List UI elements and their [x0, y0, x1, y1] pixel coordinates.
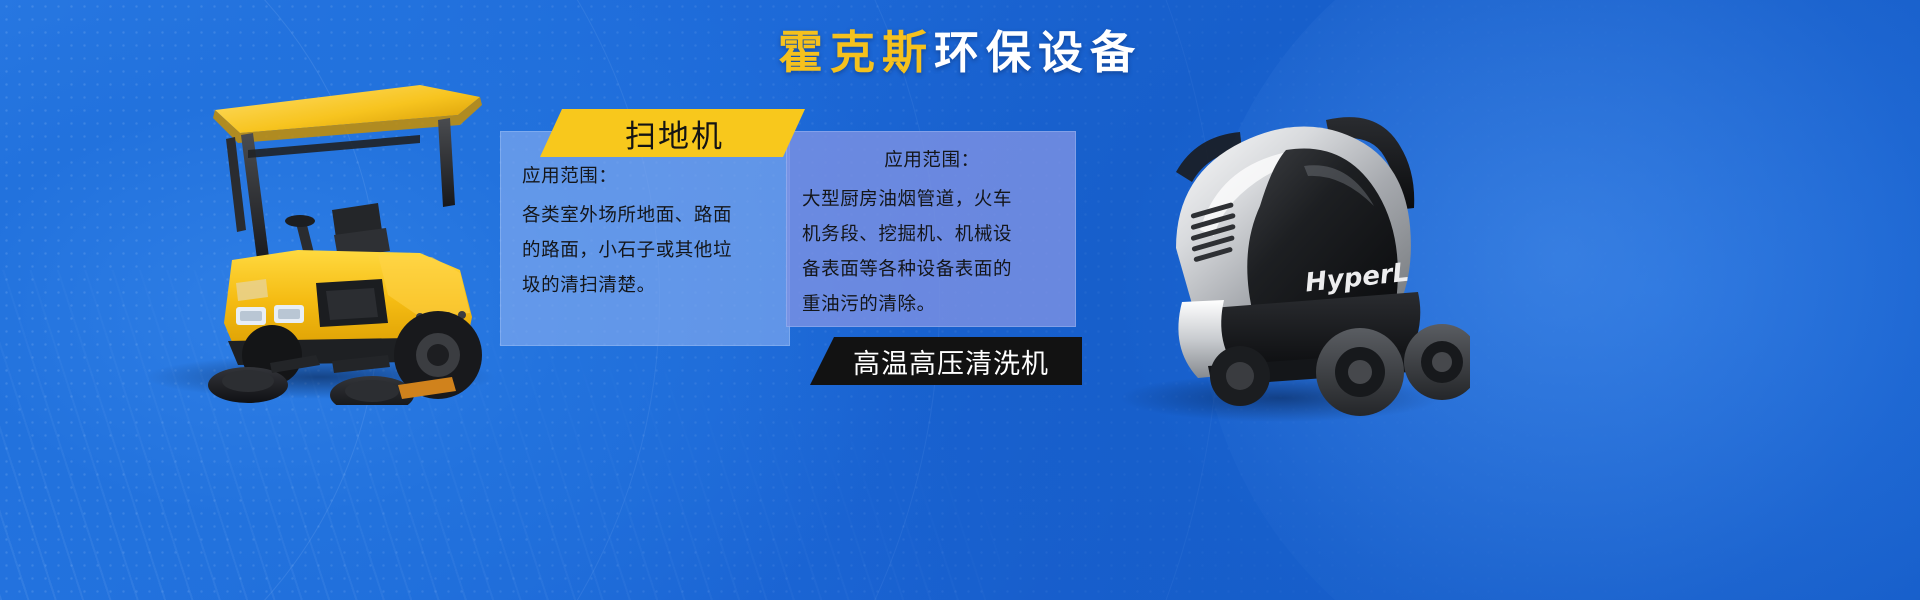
sweeper-lead-label: 应用范围：: [522, 159, 772, 194]
banner-title-rest: 环保设备: [934, 26, 1142, 79]
washer-info-panel: 应用范围： 大型厨房油烟管道，火车 机务段、挖掘机、机械设 备表面等各种设备表面…: [786, 131, 1076, 327]
sweeper-product-image: [120, 55, 520, 405]
washer-product-image: HyperL: [1090, 80, 1470, 430]
promo-banner: 霍克斯环保设备: [0, 0, 1920, 600]
washer-desc-line: 机务段、挖掘机、机械设: [802, 217, 1062, 252]
sweeper-category-tag[interactable]: 扫地机: [540, 109, 805, 157]
washer-desc-line: 大型厨房油烟管道，火车: [802, 182, 1062, 217]
sweeper-info-panel: 应用范围： 各类室外场所地面、路面 的路面，小石子或其他垃 圾的清扫清楚。: [500, 131, 790, 346]
sweeper-desc-line: 圾的清扫清楚。: [522, 268, 772, 303]
banner-title-highlight: 霍克斯: [778, 26, 934, 79]
washer-desc-line: 重油污的清除。: [802, 287, 1062, 322]
sweeper-category-tag-label: 扫地机: [540, 109, 805, 157]
washer-category-tag-label: 高温高压清洗机: [810, 337, 1082, 385]
washer-category-tag[interactable]: 高温高压清洗机: [810, 337, 1082, 385]
sweeper-desc-line: 各类室外场所地面、路面: [522, 198, 772, 233]
washer-lead-label: 应用范围：: [802, 143, 1062, 178]
sweeper-desc-line: 的路面，小石子或其他垃: [522, 233, 772, 268]
washer-desc-line: 备表面等各种设备表面的: [802, 252, 1062, 287]
